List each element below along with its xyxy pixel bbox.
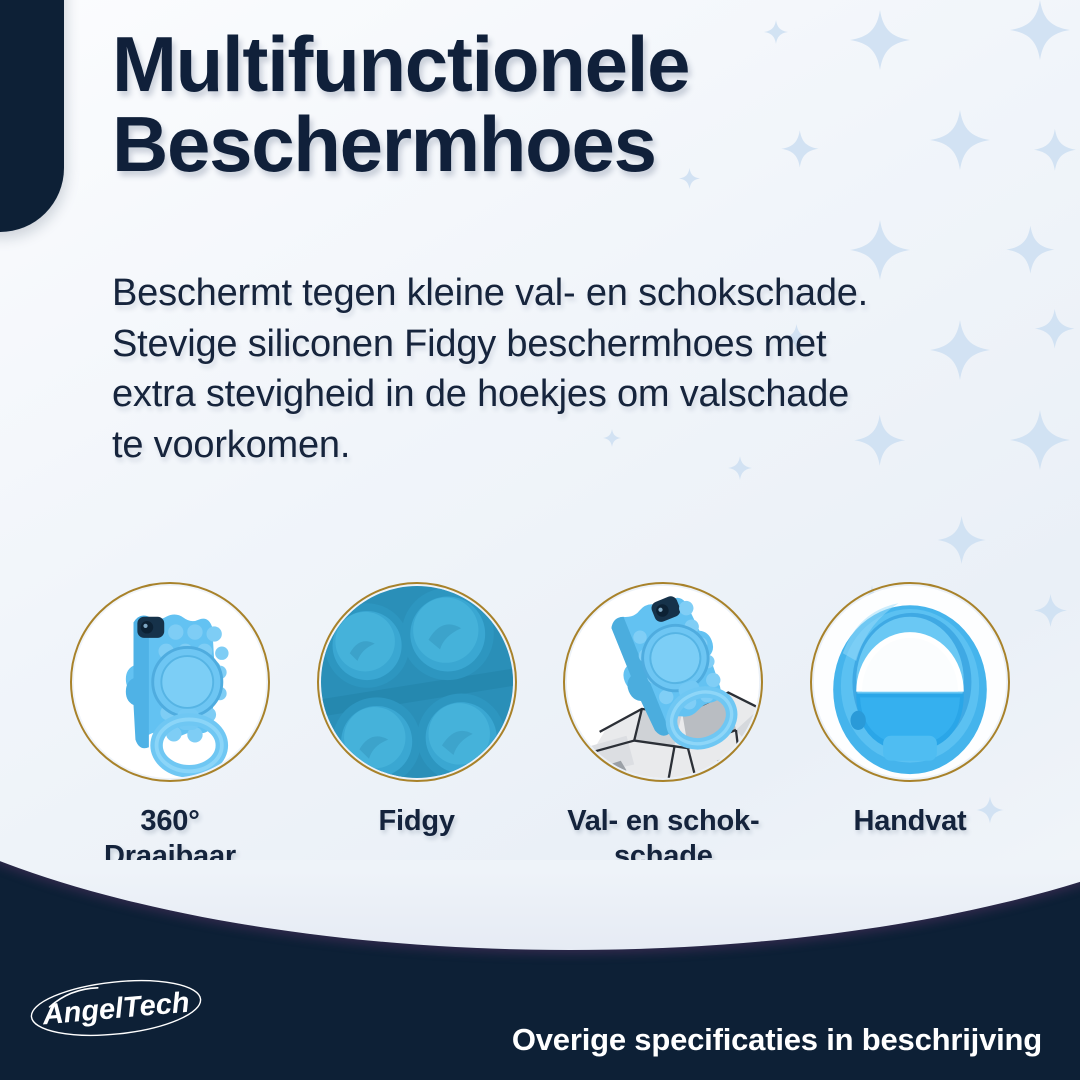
description-line-2: Stevige siliconen Fidgy beschermhoes met [112, 319, 1037, 370]
gold-ring-border [810, 582, 1010, 782]
description-text: Beschermt tegen kleine val- en schokscha… [112, 268, 1037, 470]
feature-image-circle [317, 582, 517, 782]
footer-note: Overige specificaties in beschrijving [512, 1022, 1042, 1058]
gold-ring-border [70, 582, 270, 782]
headline-line-2: Beschermhoes [112, 104, 872, 184]
navy-accent-bar [0, 0, 64, 232]
feature-image-circle [810, 582, 1010, 782]
brand-logo: AngelTech [26, 974, 206, 1038]
feature-image-circle [563, 582, 763, 782]
feature-caption: Handvat [853, 804, 966, 839]
product-infographic-poster: Multifunctionele Beschermhoes Beschermt … [0, 0, 1080, 1080]
feature-image-circle [70, 582, 270, 782]
page-title: Multifunctionele Beschermhoes [112, 24, 872, 185]
feature-caption-line-1: 360° [104, 804, 236, 839]
gold-ring-border [317, 582, 517, 782]
headline-line-1: Multifunctionele [112, 24, 872, 104]
feature-caption-line-1: Fidgy [378, 804, 454, 839]
feature-caption: Fidgy [378, 804, 454, 839]
description-line-3: extra stevigheid in de hoekjes om valsch… [112, 369, 1037, 420]
feature-caption-line-1: Val- en schok- [553, 804, 773, 839]
description-line-1: Beschermt tegen kleine val- en schokscha… [112, 268, 1037, 319]
feature-caption-line-1: Handvat [853, 804, 966, 839]
gold-ring-border [563, 582, 763, 782]
description-line-4: te voorkomen. [112, 420, 1037, 471]
